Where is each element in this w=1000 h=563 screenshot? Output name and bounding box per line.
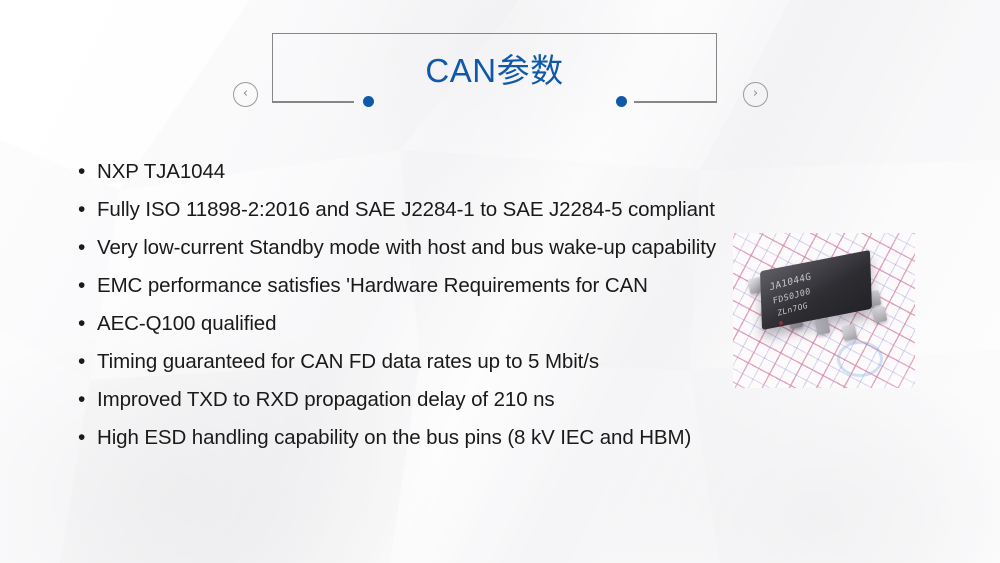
bullet-icon: •	[78, 233, 97, 262]
title-band: ‹ › CAN参数	[0, 26, 1000, 118]
list-item-text: AEC-Q100 qualified	[97, 309, 778, 338]
photo-vignette	[733, 233, 915, 388]
list-item-text: Improved TXD to RXD propagation delay of…	[97, 385, 778, 414]
list-item: • High ESD handling capability on the bu…	[78, 423, 778, 452]
bullet-list: • NXP TJA1044 • Fully ISO 11898-2:2016 a…	[78, 157, 778, 461]
bullet-icon: •	[78, 271, 97, 300]
list-item: • NXP TJA1044	[78, 157, 778, 186]
bullet-icon: •	[78, 347, 97, 376]
list-item-text: High ESD handling capability on the bus …	[97, 423, 778, 452]
bullet-icon: •	[78, 157, 97, 186]
list-item-text: Timing guaranteed for CAN FD data rates …	[97, 347, 778, 376]
list-item: • Fully ISO 11898-2:2016 and SAE J2284-1…	[78, 195, 778, 224]
list-item: • Timing guaranteed for CAN FD data rate…	[78, 347, 778, 376]
chevron-left-icon[interactable]: ‹	[233, 82, 258, 107]
list-item-text: EMC performance satisfies 'Hardware Requ…	[97, 271, 778, 300]
bullet-icon: •	[78, 423, 97, 452]
bullet-icon: •	[78, 309, 97, 338]
list-item: • AEC-Q100 qualified	[78, 309, 778, 338]
bullet-icon: •	[78, 195, 97, 224]
list-item: • Very low-current Standby mode with hos…	[78, 233, 778, 262]
list-item: • EMC performance satisfies 'Hardware Re…	[78, 271, 778, 300]
list-item: • Improved TXD to RXD propagation delay …	[78, 385, 778, 414]
chevron-right-icon[interactable]: ›	[743, 82, 768, 107]
slide-canvas: ‹ › CAN参数 • NXP TJA1044 • Fully ISO 1189…	[0, 0, 1000, 563]
list-item-text: Very low-current Standby mode with host …	[97, 233, 778, 262]
soic-chip-photo: JA1044G FDS0J00 ZLn7OG	[733, 233, 915, 388]
list-item-text: Fully ISO 11898-2:2016 and SAE J2284-1 t…	[97, 195, 778, 224]
list-item-text: NXP TJA1044	[97, 157, 778, 186]
page-title: CAN参数	[272, 33, 717, 103]
bullet-icon: •	[78, 385, 97, 414]
